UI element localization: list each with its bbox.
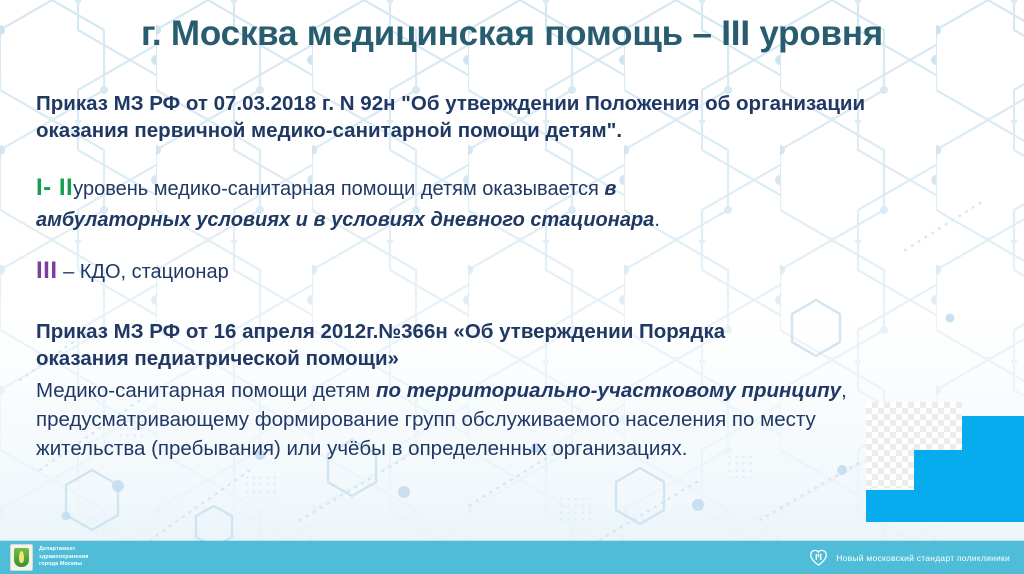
slide-footer: Департамент здравоохранения города Москв… [0, 541, 1024, 574]
level-1-2-tail: . [654, 209, 660, 231]
level-1-2-emph-rest: амбулаторных условиях и в условиях дневн… [36, 207, 836, 233]
slide-title: г. Москва медицинская помощь – III уровн… [0, 14, 1024, 54]
roman-numeral-3: III [36, 257, 58, 284]
paragraph-order-2018: Приказ МЗ РФ от 07.03.2018 г. N 92н "Об … [36, 90, 866, 144]
level-3-text: – КДО, стационар [58, 261, 229, 283]
blue-staircase-graphic [866, 402, 1024, 522]
paragraph-order-2012: Приказ МЗ РФ от 16 апреля 2012г.№366н «О… [36, 318, 856, 372]
staircase-shape [866, 402, 1024, 522]
footer-standard-block: Новый московский стандарт поликлиники [809, 548, 1018, 567]
order-2018-text: Приказ МЗ РФ от 07.03.2018 г. N 92н "Об … [36, 92, 865, 142]
principle-lead: Медико-санитарная помощи детям [36, 379, 376, 402]
standard-label: Новый московский стандарт поликлиники [836, 553, 1010, 563]
paragraph-level-3: III – КДО, стационар [36, 255, 636, 287]
order-2012-line2: оказания педиатрической помощи» [36, 345, 856, 372]
department-label: Департамент здравоохранения города Москв… [39, 546, 89, 569]
department-crest-icon [10, 544, 33, 571]
level-1-2-emph-rest-text: амбулаторных условиях и в условиях дневн… [36, 209, 654, 231]
footer-department-block: Департамент здравоохранения города Москв… [10, 544, 89, 571]
level-1-2-lead: уровень медико-санитарная помощи детям о… [73, 178, 604, 200]
level-1-2-emph-start: в [604, 178, 616, 200]
principle-emph: по территориально-участковому принципу [376, 379, 841, 402]
roman-numeral-1-2: I- II [36, 174, 73, 201]
heart-shield-icon [809, 548, 828, 567]
paragraph-territorial-principle: Медико-санитарная помощи детям по террит… [36, 376, 866, 463]
slide-canvas: г. Москва медицинская помощь – III уровн… [0, 0, 1024, 574]
order-2012-line1: Приказ МЗ РФ от 16 апреля 2012г.№366н «О… [36, 318, 856, 345]
paragraph-level-1-2: I- IIуровень медико-санитарная помощи де… [36, 172, 836, 233]
